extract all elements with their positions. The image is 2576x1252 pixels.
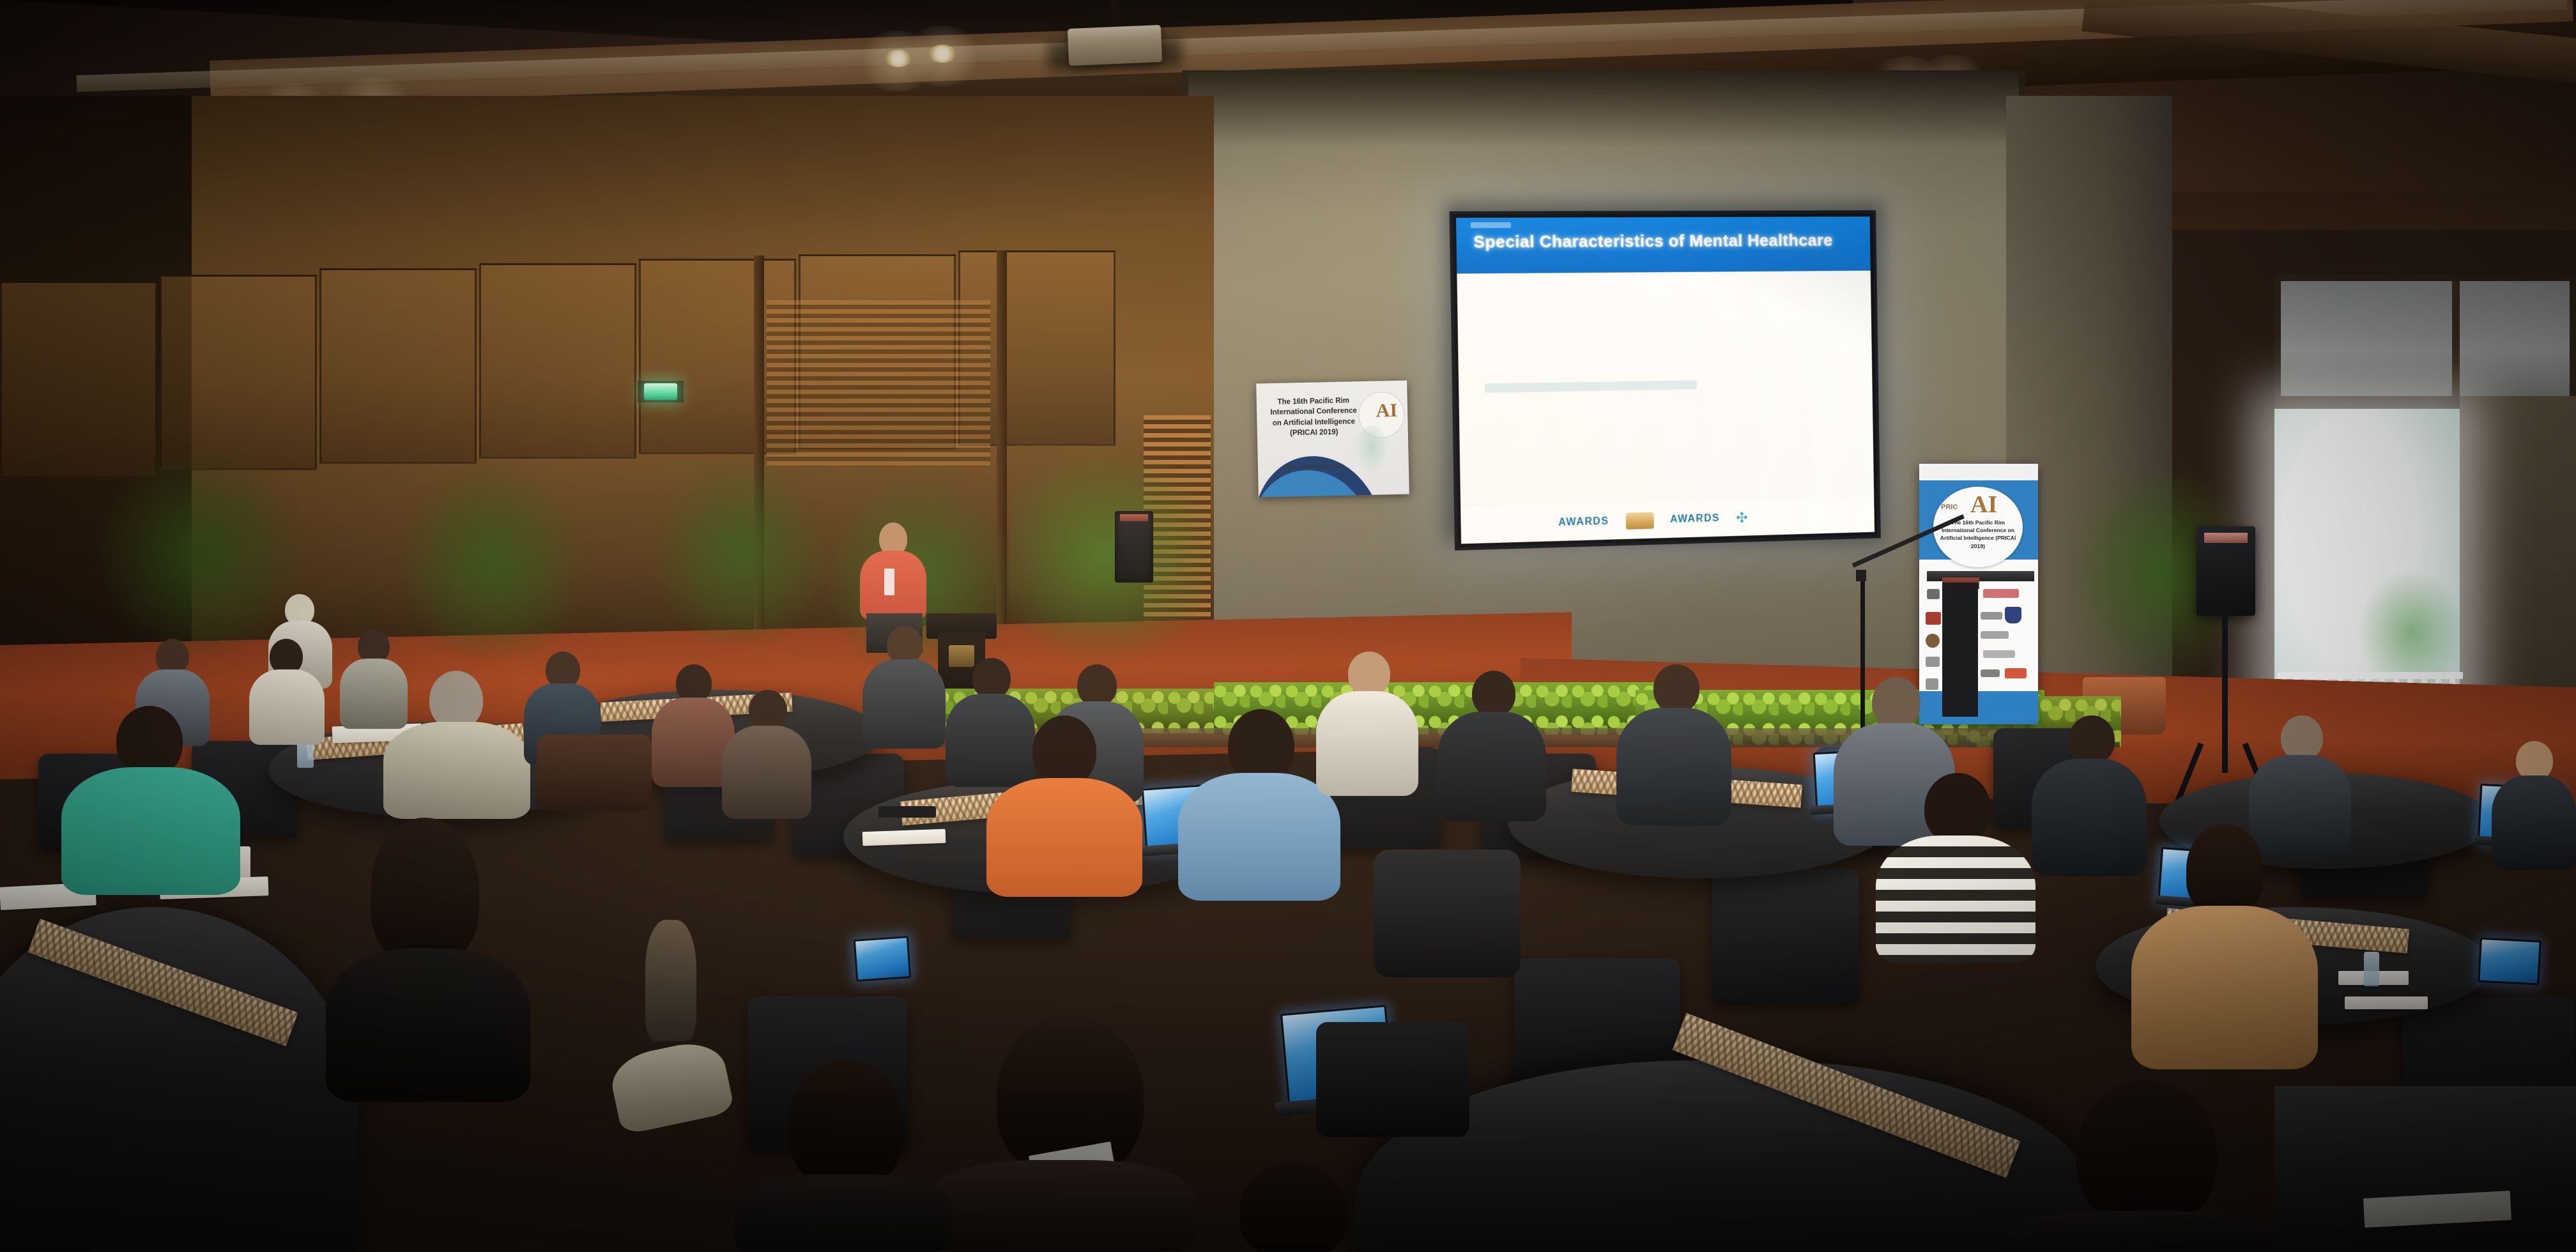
wood-panel [160, 275, 317, 470]
attendee-head [1032, 715, 1096, 787]
pa-speaker-left [1115, 511, 1153, 583]
attendee-head [1924, 773, 1991, 844]
attendee-orange-shirt [984, 715, 1144, 894]
stage-plant-cluster [396, 460, 588, 658]
attendee-head [1872, 677, 1920, 728]
paper-document [2345, 996, 2428, 1009]
podium-logo-prefix: PRIC [1941, 503, 1958, 511]
sponsor-logo [1926, 657, 1940, 667]
backpack [1316, 1022, 1469, 1137]
attendee-torso [986, 778, 1142, 897]
table-runner [1672, 1013, 2020, 1179]
attendee [1616, 664, 1731, 824]
attendee-teal-shirt [57, 706, 243, 891]
projection-screen: Special Characteristics of Mental Health… [1450, 210, 1881, 551]
attendee-head [1228, 709, 1294, 783]
presentation-slide: Special Characteristics of Mental Health… [1456, 217, 1874, 544]
sponsor-logo [1983, 650, 2015, 658]
attendee-head [2516, 741, 2553, 781]
attendee-head [1472, 671, 1515, 717]
awards-logo-left: AWARDS [1558, 516, 1609, 529]
attendee-head [1348, 652, 1390, 696]
attendee-head [1239, 1163, 1348, 1252]
projector-icon [1068, 25, 1162, 66]
sponsor-logo [1981, 669, 2000, 677]
gold-emblem-icon [1625, 512, 1653, 530]
window-mullion [2452, 281, 2460, 396]
attendee-torso [1876, 836, 2035, 963]
window-upper-pane [2281, 281, 2570, 396]
attendee [722, 690, 811, 818]
attendee-tan-dress [2127, 824, 2319, 1067]
attendee [2492, 741, 2576, 869]
attendee-striped-shirt [1872, 773, 2038, 965]
attendee-torso [1437, 712, 1546, 821]
attendee-head [1653, 664, 1699, 713]
attendee-head [676, 664, 712, 703]
foreground-table-left [0, 907, 358, 1252]
sponsor-logo [1983, 589, 2019, 598]
wood-panel [479, 263, 636, 459]
handbag [606, 1037, 735, 1136]
microphone-clip [1856, 570, 1866, 581]
attendee-head [749, 690, 787, 731]
table-runner [27, 919, 298, 1046]
awards-logo-right: AWARDS [1670, 513, 1720, 526]
slide-title-bar: Special Characteristics of Mental Health… [1456, 217, 1871, 273]
attendee-torso [862, 659, 946, 749]
bag [537, 735, 652, 811]
water-bottle [2364, 952, 2379, 986]
slide-decorative-mark [1471, 222, 1511, 228]
stage-plant-cluster [652, 454, 831, 645]
attendee-foreground-left [319, 818, 530, 1099]
attendee-torso [1316, 691, 1418, 796]
wood-panel [319, 268, 477, 464]
attendee-torso [2131, 906, 2318, 1069]
attendee-head [2281, 715, 2323, 760]
wooden-louvre-blind [767, 300, 990, 466]
balcony-rail-top [2278, 672, 2463, 679]
sponsor-logo [2005, 668, 2027, 678]
attendee-head [788, 1060, 903, 1188]
podium-ai-logo: AI [1970, 491, 1997, 519]
attendee-torso [383, 722, 530, 819]
downlight-icon [928, 45, 957, 63]
attendee-torso [722, 726, 811, 819]
banner-title: The 16th Pacific Rim International Confe… [1266, 395, 1362, 439]
attendee-torso [735, 1174, 952, 1252]
attendee-head [1077, 664, 1117, 706]
speaker-tripod-pole [2222, 613, 2228, 773]
laptop-screen [854, 936, 911, 982]
attendee [862, 626, 946, 747]
sponsor-logo [1927, 589, 1940, 599]
slide-title: Special Characteristics of Mental Health… [1473, 231, 1854, 252]
sponsor-logo [1926, 612, 1941, 625]
attendee [383, 671, 530, 818]
attendee-head [371, 818, 479, 965]
pa-speaker-badge [1120, 514, 1148, 521]
attendee-torso [2492, 775, 2576, 870]
conference-banner-left: AI The 16th Pacific Rim International Co… [1256, 381, 1409, 498]
attendee-foreground [1188, 1163, 1393, 1252]
attendee [249, 639, 325, 744]
slide-body [1457, 271, 1874, 508]
bird-emblem-icon: ✣ [1736, 509, 1755, 526]
attendee-torso [61, 767, 240, 895]
sponsor-logo [1926, 634, 1940, 648]
sponsor-logo [2005, 607, 2021, 623]
attendee-head [2186, 824, 2263, 913]
attendee-foreground-right [2006, 1080, 2274, 1252]
presenter-badge [884, 569, 894, 595]
attendee-foreground-center [926, 1016, 1195, 1252]
attendee-torso [926, 1160, 1195, 1252]
attendee-torso [1616, 708, 1731, 825]
paper-document [862, 829, 946, 846]
attendee-head [2069, 715, 2115, 764]
attendee-head [2076, 1080, 2217, 1226]
exit-sign [644, 383, 677, 400]
sponsor-logo [1981, 631, 2009, 639]
attendee-torso [249, 669, 325, 745]
attendee-head [887, 626, 923, 664]
laptop-screen [2478, 938, 2541, 986]
attendee [1437, 671, 1546, 821]
sponsor-logo [1981, 612, 2002, 620]
attendee-foreground [735, 1060, 952, 1252]
slide-faint-text-line [1485, 380, 1697, 393]
attendee-torso [2006, 1211, 2274, 1252]
bag-strap [645, 920, 696, 1041]
backpack [1374, 850, 1521, 977]
back-wall-shadow [1182, 70, 2025, 147]
attendee-white-shirt [1316, 652, 1418, 795]
attendee-head [429, 671, 483, 729]
attendee-head [972, 658, 1011, 699]
chair [1712, 869, 1859, 1003]
conference-room-photo: Special Characteristics of Mental Health… [0, 0, 2576, 1252]
foreground-table-far-right [2274, 1086, 2576, 1252]
pa-speaker-badge [2204, 533, 2248, 543]
banner-ai-logo: AI [1376, 400, 1397, 422]
attendee-torso [326, 949, 530, 1102]
phone-device [878, 806, 936, 818]
